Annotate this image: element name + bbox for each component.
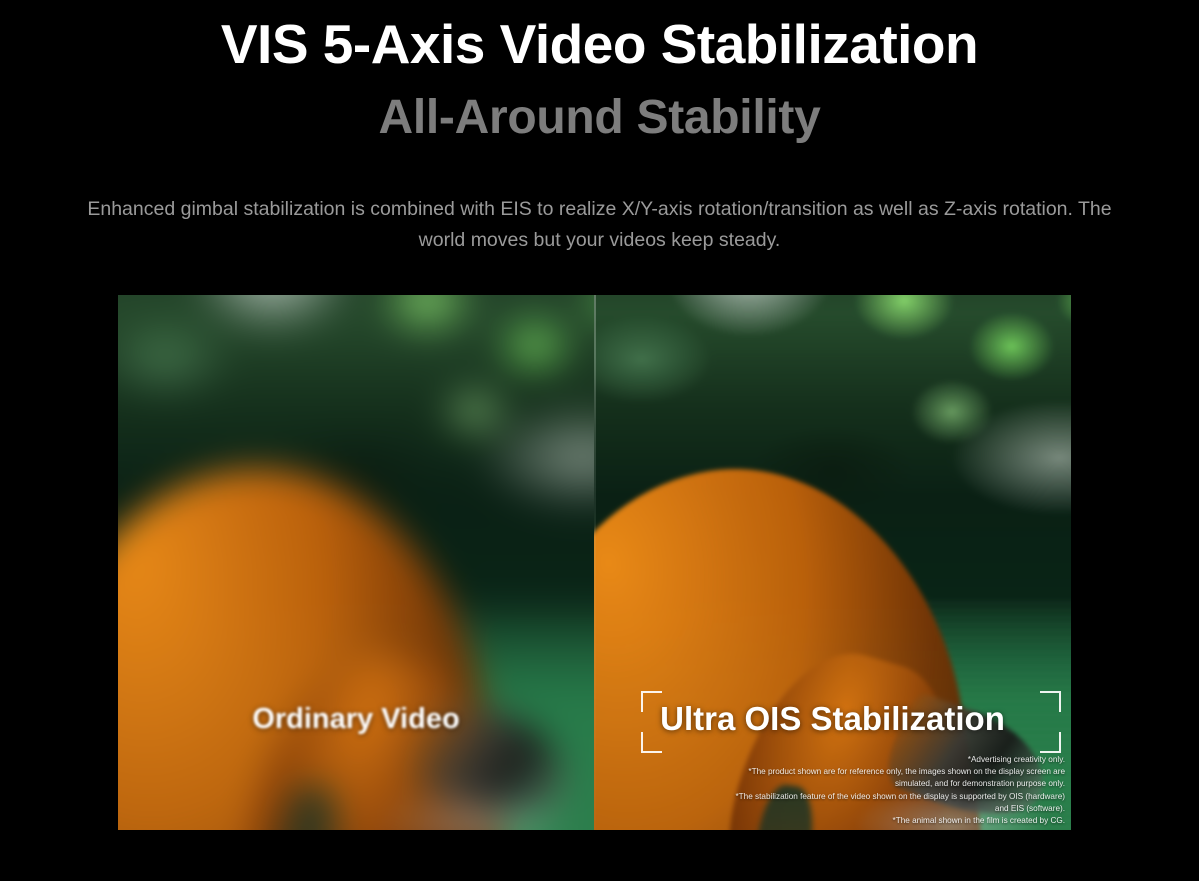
disclaimer-line: *Advertising creativity only.: [735, 754, 1065, 766]
page-title: VIS 5-Axis Video Stabilization: [0, 17, 1199, 72]
water-splash: [380, 785, 571, 830]
video-comparison-figure: Ordinary Video Ultra OIS Stabilization *…: [118, 295, 1071, 830]
disclaimer-line: *The stabilization feature of the video …: [735, 791, 1065, 815]
ordinary-video-panel: [118, 295, 594, 830]
panel-divider: [594, 295, 596, 830]
ordinary-video-scene-artwork: [118, 295, 594, 830]
disclaimer-text: *Advertising creativity only. *The produ…: [735, 754, 1065, 827]
page-description: Enhanced gimbal stabilization is combine…: [65, 194, 1135, 256]
promo-page: VIS 5-Axis Video Stabilization All-Aroun…: [0, 0, 1199, 881]
ordinary-video-caption: Ordinary Video: [118, 703, 594, 736]
disclaimer-line: *The animal shown in the film is created…: [735, 815, 1065, 827]
disclaimer-line: *The product shown are for reference onl…: [735, 766, 1065, 790]
ultra-ois-caption: Ultra OIS Stabilization: [594, 700, 1071, 738]
page-subtitle: All-Around Stability: [0, 94, 1199, 142]
